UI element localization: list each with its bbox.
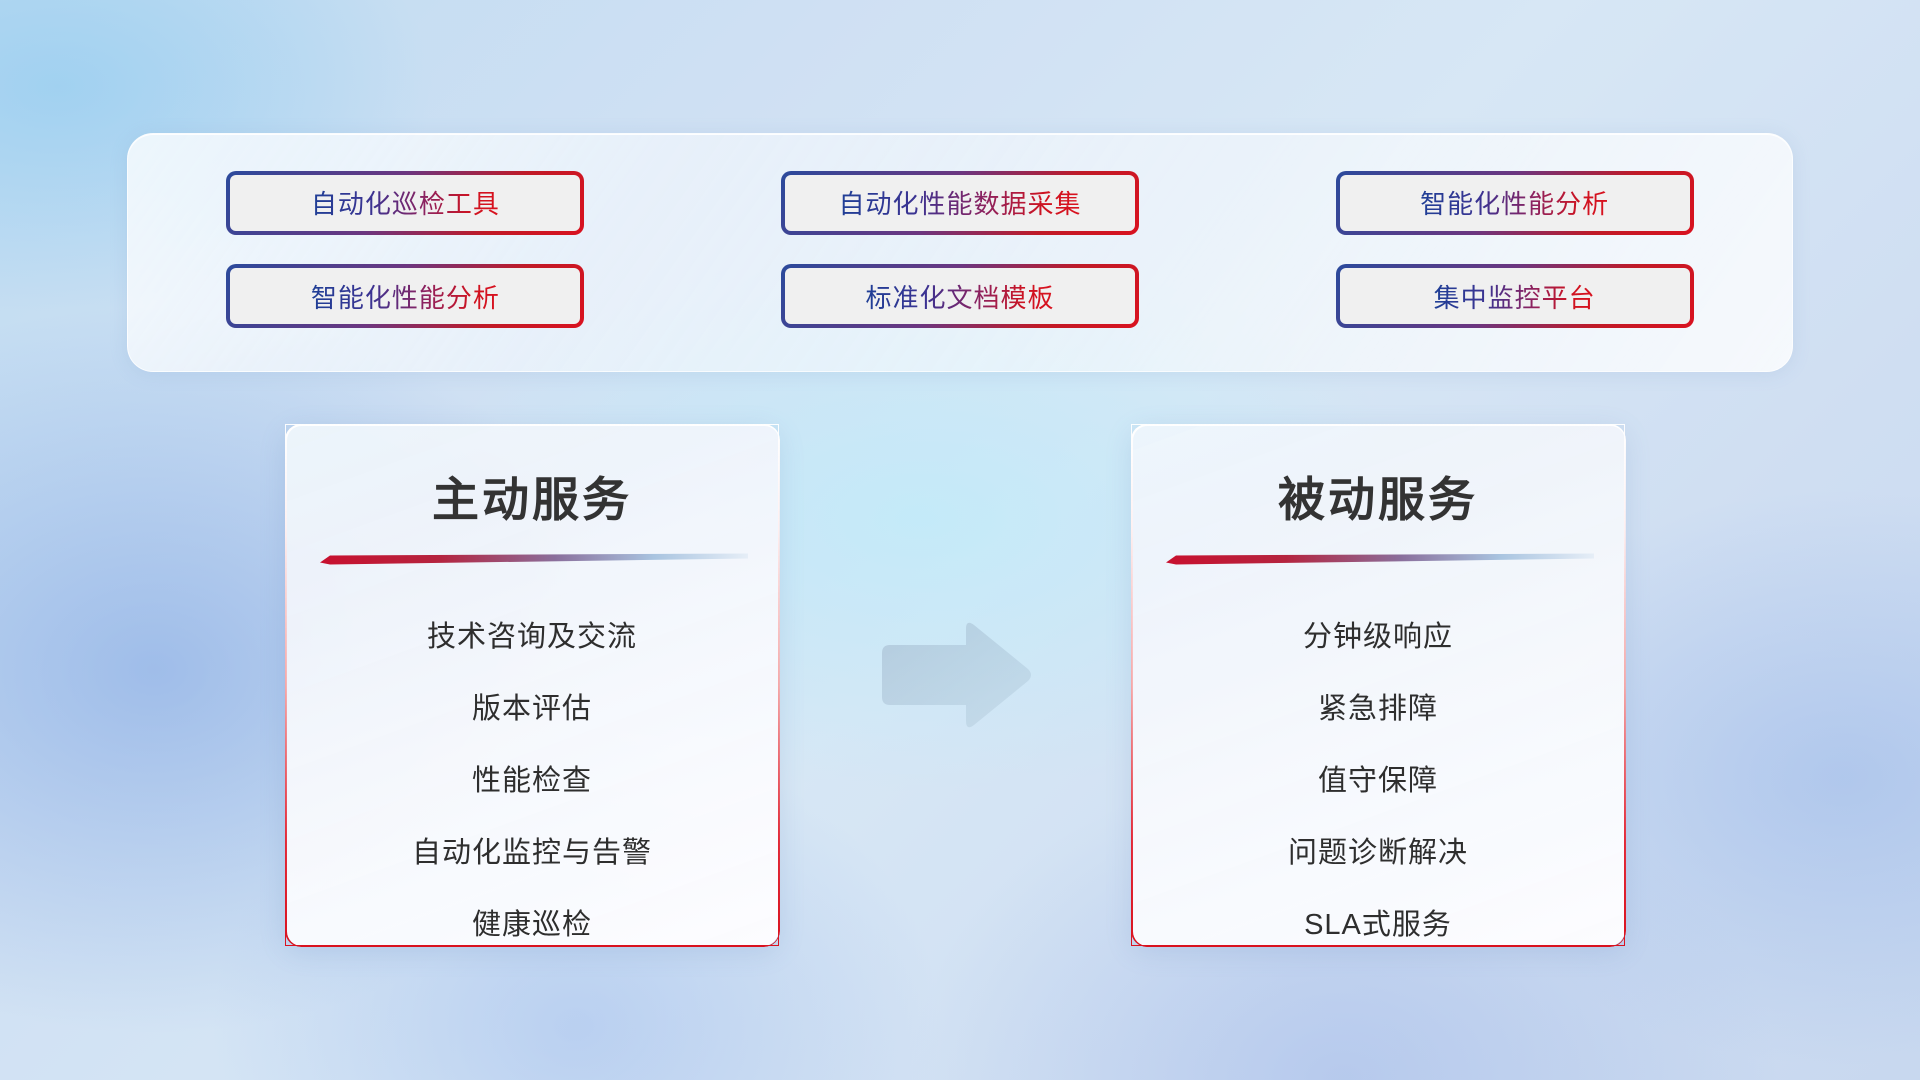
capability-tag[interactable]: 自动化性能数据采集 [781,171,1139,235]
list-item[interactable]: 值守保障 [1318,745,1438,817]
capability-tags-panel: 自动化巡检工具 自动化性能数据采集 智能化性能分析 智能化性能分析 标准化文档模… [127,133,1793,372]
capability-tag[interactable]: 标准化文档模板 [781,264,1139,328]
list-item[interactable]: 健康巡检 [472,889,592,961]
capability-tag[interactable]: 智能化性能分析 [1336,171,1694,235]
service-list: 技术咨询及交流 版本评估 性能检查 自动化监控与告警 健康巡检 [286,601,778,961]
arrow-right-icon [874,617,1038,733]
capability-tag-label: 智能化性能分析 [311,278,500,315]
list-item[interactable]: 技术咨询及交流 [427,601,637,673]
capability-tag-label: 智能化性能分析 [1420,184,1609,221]
list-item[interactable]: SLA式服务 [1304,889,1452,961]
service-card-reactive: 被动服务 分钟级响应 紧急排障 值守保障 问题诊断解决 SLA式服务 [1131,424,1625,946]
card-divider [320,553,748,565]
capability-tag[interactable]: 智能化性能分析 [226,264,584,328]
capability-tag[interactable]: 自动化巡检工具 [226,171,584,235]
list-item[interactable]: 分钟级响应 [1303,601,1453,673]
service-list: 分钟级响应 紧急排障 值守保障 问题诊断解决 SLA式服务 [1132,601,1624,961]
slide-canvas: 自动化巡检工具 自动化性能数据采集 智能化性能分析 智能化性能分析 标准化文档模… [0,0,1920,1080]
list-item[interactable]: 自动化监控与告警 [412,817,652,889]
list-item[interactable]: 性能检查 [472,745,592,817]
service-card-proactive: 主动服务 技术咨询及交流 版本评估 性能检查 自动化监控与告警 健康巡检 [285,424,779,946]
capability-tag-label: 标准化文档模板 [865,278,1054,315]
list-item[interactable]: 版本评估 [472,673,592,745]
list-item[interactable]: 紧急排障 [1318,673,1438,745]
capability-tag-grid: 自动化巡检工具 自动化性能数据采集 智能化性能分析 智能化性能分析 标准化文档模… [128,134,1792,371]
capability-tag[interactable]: 集中监控平台 [1336,264,1694,328]
capability-tag-label: 自动化巡检工具 [311,184,500,221]
card-divider [1166,553,1594,565]
card-title: 主动服务 [286,461,778,530]
card-title: 被动服务 [1132,461,1624,530]
list-item[interactable]: 问题诊断解决 [1288,817,1468,889]
capability-tag-label: 集中监控平台 [1434,278,1596,315]
capability-tag-label: 自动化性能数据采集 [838,184,1081,221]
